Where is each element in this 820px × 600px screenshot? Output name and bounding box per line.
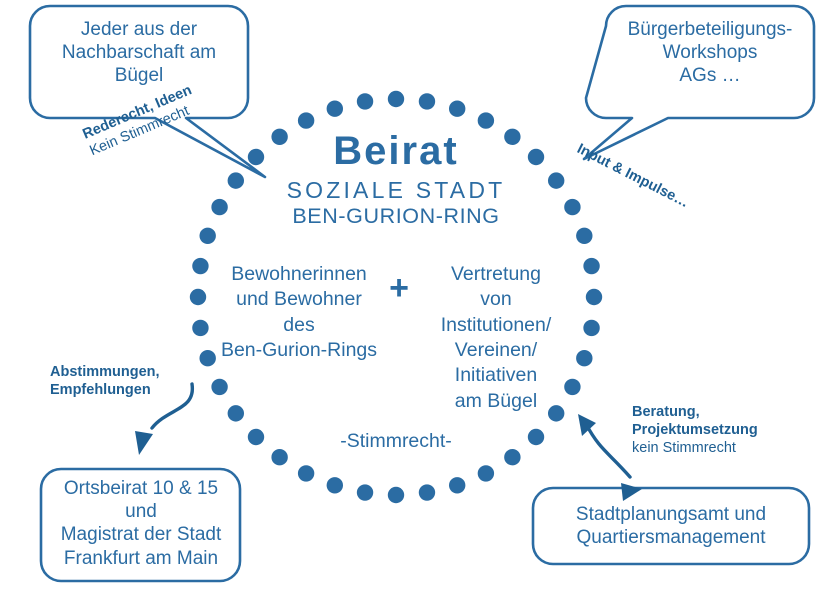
ring-dot: [548, 172, 564, 188]
ring-dot: [449, 477, 465, 493]
annotation-bottom-right: Beratung,Projektumsetzung kein Stimmrech…: [632, 403, 812, 457]
members-left-column: Bewohnerinnenund BewohnerdesBen-Gurion-R…: [216, 262, 382, 363]
ring-dot: [564, 199, 580, 215]
subtitle-secondary: BEN-GURION-RING: [246, 203, 546, 229]
ring-dot: [388, 91, 404, 107]
ring-dot: [357, 484, 373, 500]
ring-dot: [583, 320, 599, 336]
ring-dot: [449, 100, 465, 116]
diagram-canvas: Jeder aus derNachbarschaft amBügel Bürge…: [0, 0, 820, 600]
ring-dot: [271, 449, 287, 465]
bubble-bottom-right-text: Stadtplanungsamt undQuartiersmanagement: [540, 503, 802, 549]
ring-dot: [583, 258, 599, 274]
ring-dot: [478, 465, 494, 481]
annotation-bottom-right-bold: Beratung,Projektumsetzung: [632, 403, 812, 439]
ring-dot: [211, 199, 227, 215]
bubble-top-right-text: Bürgerbeteiligungs-WorkshopsAGs …: [616, 18, 804, 88]
bubble-bottom-left-text: Ortsbeirat 10 & 15undMagistrat der Stadt…: [46, 477, 236, 570]
ring-dot: [199, 228, 215, 244]
voting-note: -Stimmrecht-: [296, 430, 496, 454]
subtitle-primary: SOZIALE STADT: [246, 176, 546, 204]
ring-dot: [248, 429, 264, 445]
ring-dot: [504, 449, 520, 465]
annotation-bottom-left: Abstimmungen,Empfehlungen: [50, 363, 220, 399]
ring-dot: [228, 172, 244, 188]
page-title: Beirat: [246, 127, 546, 176]
members-right-column: VertretungvonInstitutionen/Vereinen/Init…: [418, 262, 574, 414]
ring-dot: [192, 320, 208, 336]
ring-dot: [586, 289, 602, 305]
annotation-bottom-right-light: kein Stimmrecht: [632, 439, 812, 457]
ring-dot: [357, 93, 373, 109]
ring-dot: [228, 405, 244, 421]
plus-icon: +: [382, 268, 416, 309]
ring-dot: [528, 429, 544, 445]
ring-dot: [192, 258, 208, 274]
ring-dot: [576, 228, 592, 244]
ring-dot: [327, 100, 343, 116]
ring-dot: [190, 289, 206, 305]
ring-dot: [327, 477, 343, 493]
ring-dot: [419, 484, 435, 500]
ring-dot: [388, 487, 404, 503]
ring-dot: [298, 465, 314, 481]
ring-dot: [419, 93, 435, 109]
ring-dot: [576, 350, 592, 366]
